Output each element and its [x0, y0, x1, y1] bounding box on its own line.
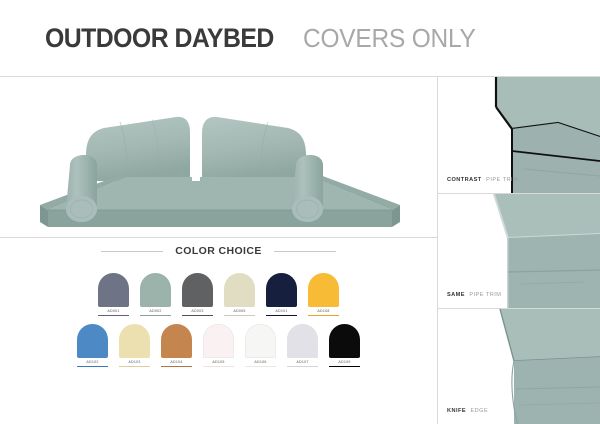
detail-same-pipe-trim: SAME PIPE TRIM: [438, 193, 600, 309]
heading-rule-left: [101, 251, 163, 252]
swatch-underline: [329, 366, 360, 368]
swatch-chip[interactable]: [182, 273, 213, 307]
detail-label-light: PIPE TRIM: [486, 177, 518, 183]
seat-cushion: [514, 357, 600, 424]
swatch-chip[interactable]: [266, 273, 297, 307]
swatch-underline: [266, 315, 297, 317]
right-column: CONTRAST PIPE TRIM SAME PIPE TRIM: [437, 77, 600, 424]
detail-contrast-pipe-trim: CONTRAST PIPE TRIM: [438, 77, 600, 193]
swatch-code: AD102: [77, 361, 108, 365]
hero-divider: [0, 237, 437, 238]
detail-label-bold: KNIFE: [447, 408, 466, 414]
page-title-light: COVERS ONLY: [303, 23, 476, 54]
swatch-code: AD109: [329, 361, 360, 365]
detail-knife-edge: KNIFE EDGE: [438, 308, 600, 424]
color-swatch[interactable]: AD109: [329, 324, 360, 367]
back-cushion: [494, 194, 600, 238]
left-column: COLOR CHOICE AD001 AD002 AD003: [0, 77, 437, 424]
swatch-underline: [245, 366, 276, 368]
swatch-chip[interactable]: [98, 273, 129, 307]
swatch-underline: [77, 366, 108, 368]
page-title-bold: OUTDOOR DAYBED: [45, 23, 274, 54]
swatch-underline: [140, 315, 171, 317]
swatch-row-2: AD102 AD103 AD104 AD105: [0, 324, 437, 367]
swatch-underline: [182, 315, 213, 317]
swatch-code: AD103: [119, 361, 150, 365]
swatch-underline: [308, 315, 339, 317]
color-swatch[interactable]: AD001: [98, 273, 129, 316]
daybed-hero-image: [0, 77, 437, 237]
swatch-chip[interactable]: [287, 324, 318, 358]
color-swatch[interactable]: AD108: [308, 273, 339, 316]
swatch-underline: [287, 366, 318, 368]
detail-label-bold: CONTRAST: [447, 177, 482, 183]
back-pillow-left: [86, 117, 190, 181]
swatch-code: AD005: [224, 310, 255, 314]
swatch-code: AD104: [161, 361, 192, 365]
color-swatch[interactable]: AD002: [140, 273, 171, 316]
swatch-row-1: AD001 AD002 AD003 AD005: [0, 273, 437, 316]
swatch-code: AD001: [98, 310, 129, 314]
swatch-code: AD003: [182, 310, 213, 314]
bolster-left: [66, 155, 97, 222]
swatch-code: AD002: [140, 310, 171, 314]
seat-cushion: [512, 123, 600, 193]
swatch-code: AD108: [308, 310, 339, 314]
swatch-chip[interactable]: [119, 324, 150, 358]
detail-label-bold: SAME: [447, 292, 465, 298]
color-choice-label: COLOR CHOICE: [175, 245, 261, 257]
swatch-chip[interactable]: [224, 273, 255, 307]
swatch-underline: [224, 315, 255, 317]
color-swatch[interactable]: AD105: [203, 324, 234, 367]
bolster-right: [292, 155, 323, 222]
swatch-code: AD106: [245, 361, 276, 365]
color-swatch[interactable]: AD005: [224, 273, 255, 316]
detail-label-light: PIPE TRIM: [469, 292, 501, 298]
color-swatch[interactable]: AD107: [287, 324, 318, 367]
swatch-chip[interactable]: [161, 324, 192, 358]
detail-label: KNIFE EDGE: [447, 399, 488, 417]
swatch-underline: [203, 366, 234, 368]
page-header: OUTDOOR DAYBED COVERS ONLY: [0, 0, 600, 76]
daybed-illustration: [0, 77, 437, 237]
color-swatch[interactable]: AD102: [77, 324, 108, 367]
color-choice-heading: COLOR CHOICE: [0, 245, 437, 257]
swatch-code: AD107: [287, 361, 318, 365]
swatch-code: AD105: [203, 361, 234, 365]
detail-label: SAME PIPE TRIM: [447, 283, 501, 301]
swatch-underline: [98, 315, 129, 317]
detail-label-light: EDGE: [470, 408, 488, 414]
detail-label: CONTRAST PIPE TRIM: [447, 168, 518, 186]
color-swatch[interactable]: AD104: [161, 324, 192, 367]
swatch-underline: [161, 366, 192, 368]
color-swatch[interactable]: AD106: [245, 324, 276, 367]
swatch-underline: [119, 366, 150, 368]
swatch-chip[interactable]: [203, 324, 234, 358]
pillow-gap: [192, 121, 200, 181]
swatch-chip[interactable]: [329, 324, 360, 358]
swatch-chip[interactable]: [308, 273, 339, 307]
mattress-front: [48, 210, 392, 227]
color-swatch[interactable]: AD003: [182, 273, 213, 316]
back-cushion: [500, 309, 600, 361]
color-swatch[interactable]: AD103: [119, 324, 150, 367]
swatch-chip[interactable]: [77, 324, 108, 358]
heading-rule-right: [274, 251, 336, 252]
mattress-top: [48, 177, 392, 210]
infographic-page: OUTDOOR DAYBED COVERS ONLY: [0, 0, 600, 424]
back-pillow-right: [202, 117, 306, 181]
swatch-chip[interactable]: [245, 324, 276, 358]
swatch-chip[interactable]: [140, 273, 171, 307]
color-swatch-grid: AD001 AD002 AD003 AD005: [0, 273, 437, 375]
color-swatch[interactable]: AD101: [266, 273, 297, 316]
swatch-code: AD101: [266, 310, 297, 314]
